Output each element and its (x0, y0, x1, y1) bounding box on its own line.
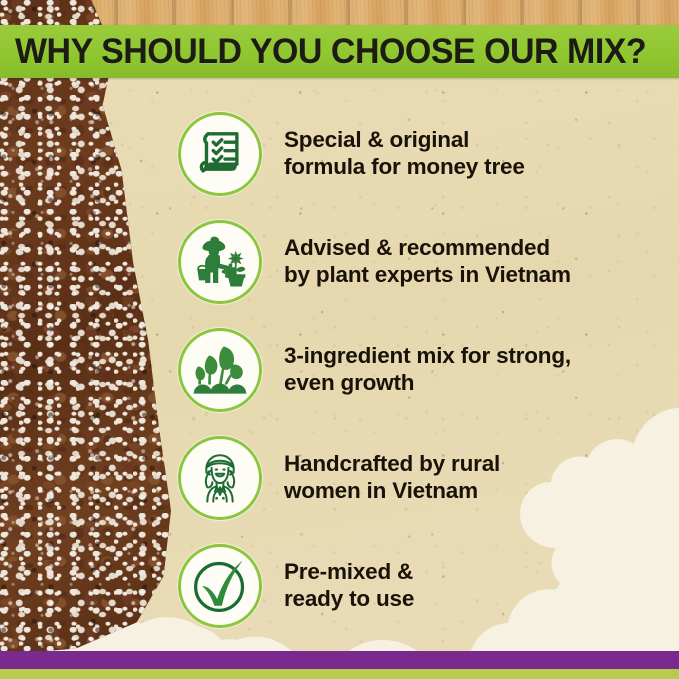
gardener-watering-icon (178, 220, 262, 304)
checkmark-circle-icon (178, 544, 262, 628)
feature-row: Advised & recommended by plant experts i… (0, 208, 679, 316)
feature-line-2: by plant experts in Vietnam (284, 262, 571, 289)
feature-line-2: formula for money tree (284, 154, 525, 181)
sprouting-plants-icon (178, 328, 262, 412)
feature-text: Handcrafted by rural women in Vietnam (284, 451, 500, 505)
feature-list: Special & original formula for money tre… (0, 100, 679, 640)
feature-row: Handcrafted by rural women in Vietnam (0, 424, 679, 532)
feature-line-1: 3-ingredient mix for strong, (284, 343, 571, 370)
feature-line-2: women in Vietnam (284, 478, 500, 505)
page-title: WHY SHOULD YOU CHOOSE OUR MIX? (15, 34, 646, 69)
feature-text: 3-ingredient mix for strong, even growth (284, 343, 571, 397)
feature-text: Pre-mixed & ready to use (284, 559, 414, 613)
rural-woman-icon (178, 436, 262, 520)
feature-line-2: even growth (284, 370, 571, 397)
feature-line-1: Advised & recommended (284, 235, 571, 262)
scroll-checklist-icon (178, 112, 262, 196)
feature-text: Special & original formula for money tre… (284, 127, 525, 181)
feature-row: Pre-mixed & ready to use (0, 532, 679, 640)
feature-row: 3-ingredient mix for strong, even growth (0, 316, 679, 424)
header-banner: WHY SHOULD YOU CHOOSE OUR MIX? (0, 25, 679, 78)
feature-line-1: Handcrafted by rural (284, 451, 500, 478)
feature-text: Advised & recommended by plant experts i… (284, 235, 571, 289)
feature-line-1: Pre-mixed & (284, 559, 414, 586)
green-footer-strip (0, 669, 679, 679)
feature-line-2: ready to use (284, 586, 414, 613)
feature-row: Special & original formula for money tre… (0, 100, 679, 208)
feature-line-1: Special & original (284, 127, 525, 154)
infographic-root: WHY SHOULD YOU CHOOSE OUR MIX? (0, 0, 679, 679)
